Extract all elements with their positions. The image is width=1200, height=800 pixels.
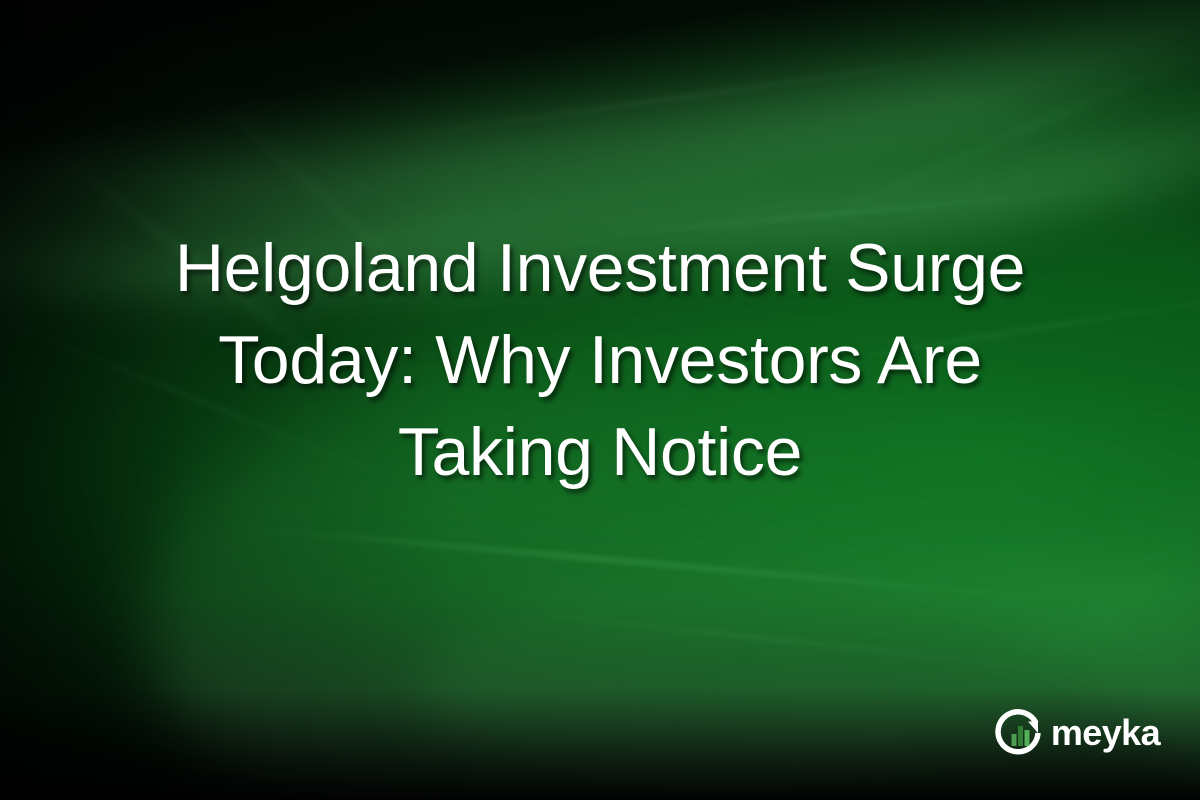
brand-logo: meyka	[995, 708, 1160, 758]
meyka-circular-bar-chart-icon	[995, 708, 1045, 758]
page-title: Helgoland Investment Surge Today: Why In…	[0, 222, 1200, 498]
brand-wordmark: meyka	[1051, 715, 1160, 751]
article-card: Helgoland Investment Surge Today: Why In…	[0, 0, 1200, 800]
